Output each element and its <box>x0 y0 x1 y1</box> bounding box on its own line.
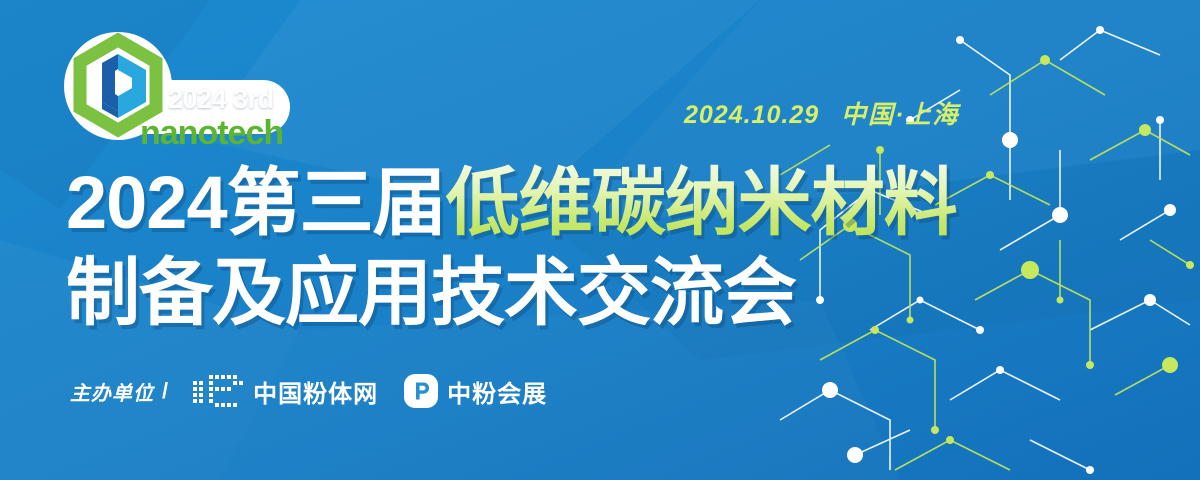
title-line-1-green: 低维碳纳米材料 <box>446 161 957 244</box>
conference-banner: 2024 3rd nanotech 2024.10.29中国·上海 2024第三… <box>0 0 1200 480</box>
nanotech-logo[interactable]: 2024 3rd nanotech <box>62 32 302 140</box>
organizer-item-1[interactable]: 中国粉体网 <box>192 373 378 409</box>
page-title: 2024第三届低维碳纳米材料 制备及应用技术交流会 <box>66 160 1026 336</box>
organizer-item-2[interactable]: 中粉会展 <box>404 374 547 409</box>
logo-year-text: 2024 3rd <box>168 84 274 115</box>
p-rounded-square-logo-icon <box>404 374 438 408</box>
organizer-name-1: 中国粉体网 <box>253 374 378 409</box>
title-line-2: 制备及应用技术交流会 <box>66 250 1026 336</box>
dot-matrix-logo-icon <box>192 373 244 409</box>
organizers-row: 主办单位 / <box>70 370 547 412</box>
organizers-label: 主办单位 <box>70 377 154 406</box>
logo-wordmark: nanotech <box>140 116 283 150</box>
organizers-separator: / <box>162 378 168 404</box>
title-line-1: 2024第三届低维碳纳米材料 <box>66 160 1026 246</box>
event-location: 中国·上海 <box>841 101 959 129</box>
organizer-name-2: 中粉会展 <box>447 374 547 409</box>
event-date-location: 2024.10.29中国·上海 <box>684 95 959 131</box>
event-date: 2024.10.29 <box>684 101 819 129</box>
title-line-1-white: 2024第三届 <box>66 161 446 244</box>
